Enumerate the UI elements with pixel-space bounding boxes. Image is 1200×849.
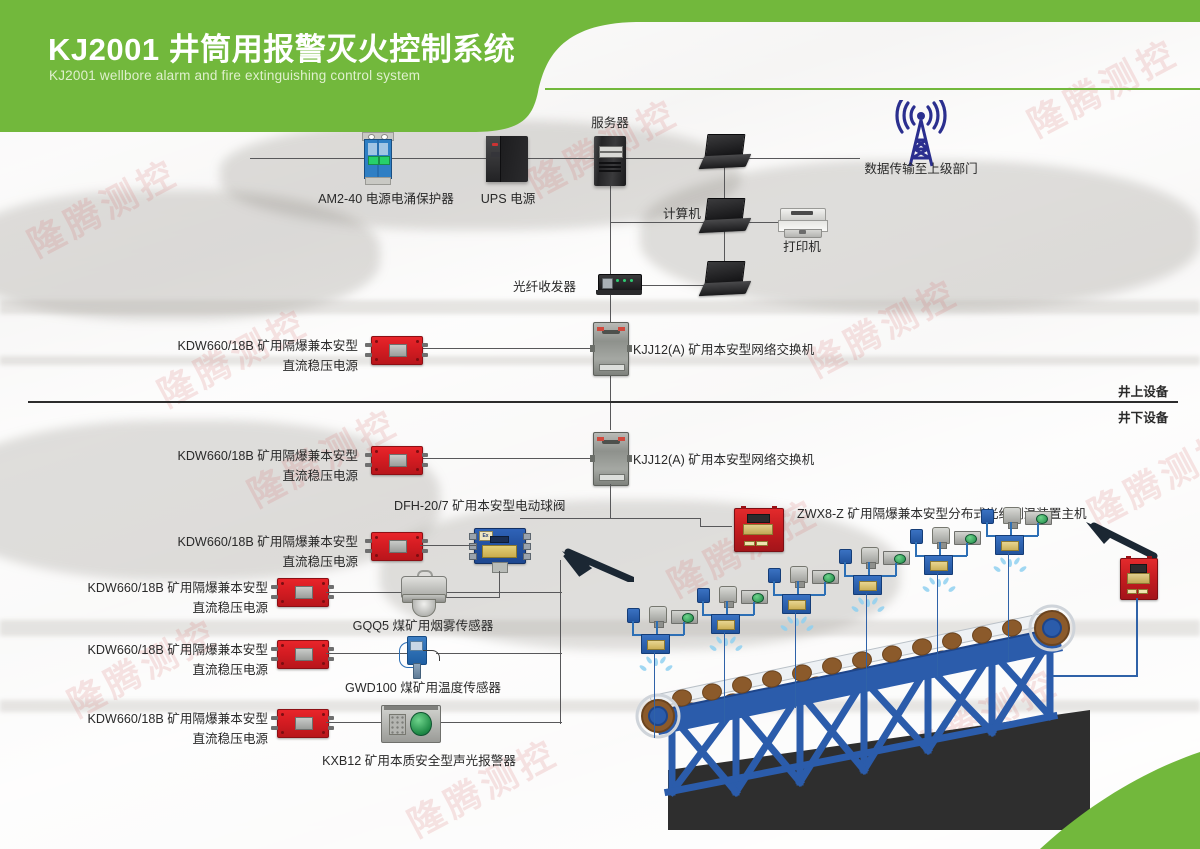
smoke-sensor-label: GQQ5 煤矿用烟雾传感器 bbox=[343, 617, 503, 637]
power-supply-device bbox=[371, 336, 423, 365]
surface-underground-divider bbox=[28, 401, 1178, 403]
ups-label: UPS 电源 bbox=[472, 190, 544, 210]
ball-valve-device: Ex bbox=[474, 528, 526, 564]
power-supply-device bbox=[277, 640, 329, 669]
bg-shape bbox=[0, 300, 1200, 314]
network-switch-device-underground bbox=[593, 432, 629, 486]
power-supply-label-2: KDW660/18B 矿用隔爆兼本安型 直流稳压电源 bbox=[70, 533, 358, 572]
computer-label: 计算机 bbox=[663, 205, 701, 225]
header-rule bbox=[545, 88, 1200, 90]
power-supply-label-1: KDW660/18B 矿用隔爆兼本安型 直流稳压电源 bbox=[150, 447, 358, 486]
power-supply-device bbox=[371, 532, 423, 561]
power-supply-device bbox=[277, 709, 329, 738]
wire-ac-bus bbox=[250, 158, 600, 159]
diagram-canvas: 隆腾测控 隆腾测控 隆腾测控 隆腾测控 隆腾测控 隆腾测控 隆腾测控 隆腾测控 … bbox=[0, 0, 1200, 849]
wire-belt-controller bbox=[1136, 598, 1138, 676]
page-subtitle: KJ2001 wellbore alarm and fire extinguis… bbox=[49, 68, 420, 83]
server-device bbox=[594, 136, 626, 186]
wire-temp-bus bbox=[436, 653, 562, 654]
surface-power-supply-label: KDW660/18B 矿用隔爆兼本安型 直流稳压电源 bbox=[150, 337, 358, 376]
wire-to-valve bbox=[520, 518, 612, 519]
underground-label: 井下设备 bbox=[1118, 409, 1168, 429]
wire-ps5-alarm bbox=[326, 722, 382, 723]
above-ground-label: 井上设备 bbox=[1118, 383, 1168, 403]
wire-surface-power bbox=[420, 348, 605, 349]
power-supply-label-5: KDW660/18B 矿用隔爆兼本安型 直流稳压电源 bbox=[70, 710, 268, 749]
media-converter-label: 光纤收发器 bbox=[513, 278, 576, 298]
wire-ps3-smoke bbox=[326, 592, 406, 593]
belt-controller-device bbox=[1120, 558, 1158, 600]
ball-valve-label: DFH-20/7 矿用本安型电动球阀 bbox=[394, 497, 565, 517]
wire-ps4-temp bbox=[326, 653, 408, 654]
alarm-device bbox=[381, 705, 441, 743]
wire-switch-down bbox=[610, 484, 611, 518]
wire-ug-power-1 bbox=[420, 458, 605, 459]
ups-device bbox=[486, 136, 528, 182]
printer-label: 打印机 bbox=[772, 238, 832, 258]
alarm-label: KXB12 矿用本质安全型声光报警器 bbox=[310, 752, 528, 772]
wire-alarm-bus bbox=[438, 722, 562, 723]
surface-switch-label: KJJ12(A) 矿用本安型网络交换机 bbox=[633, 341, 814, 361]
network-switch-device bbox=[593, 322, 629, 376]
wire-media-converter bbox=[640, 285, 700, 286]
underground-switch-label: KJJ12(A) 矿用本安型网络交换机 bbox=[633, 451, 814, 471]
surge-protector-label: AM2-40 电源电涌保护器 bbox=[308, 190, 464, 210]
power-supply-label-3: KDW660/18B 矿用隔爆兼本安型 直流稳压电源 bbox=[70, 579, 268, 618]
wire-ps2-valve bbox=[420, 545, 476, 546]
power-supply-device bbox=[371, 446, 423, 475]
page-title: KJ2001 井筒用报警灭火控制系统 bbox=[48, 24, 515, 69]
wire-smoke-bus bbox=[442, 592, 562, 593]
temperature-sensor-label: GWD100 煤矿用温度传感器 bbox=[338, 679, 508, 699]
wire-bus-tail bbox=[560, 700, 561, 724]
power-supply-label-4: KDW660/18B 矿用隔爆兼本安型 直流稳压电源 bbox=[70, 641, 268, 680]
wire-belt-head bbox=[1053, 675, 1138, 677]
antenna-label: 数据传输至上级部门 bbox=[848, 160, 994, 180]
power-supply-device bbox=[277, 578, 329, 607]
server-label: 服务器 bbox=[580, 114, 640, 134]
